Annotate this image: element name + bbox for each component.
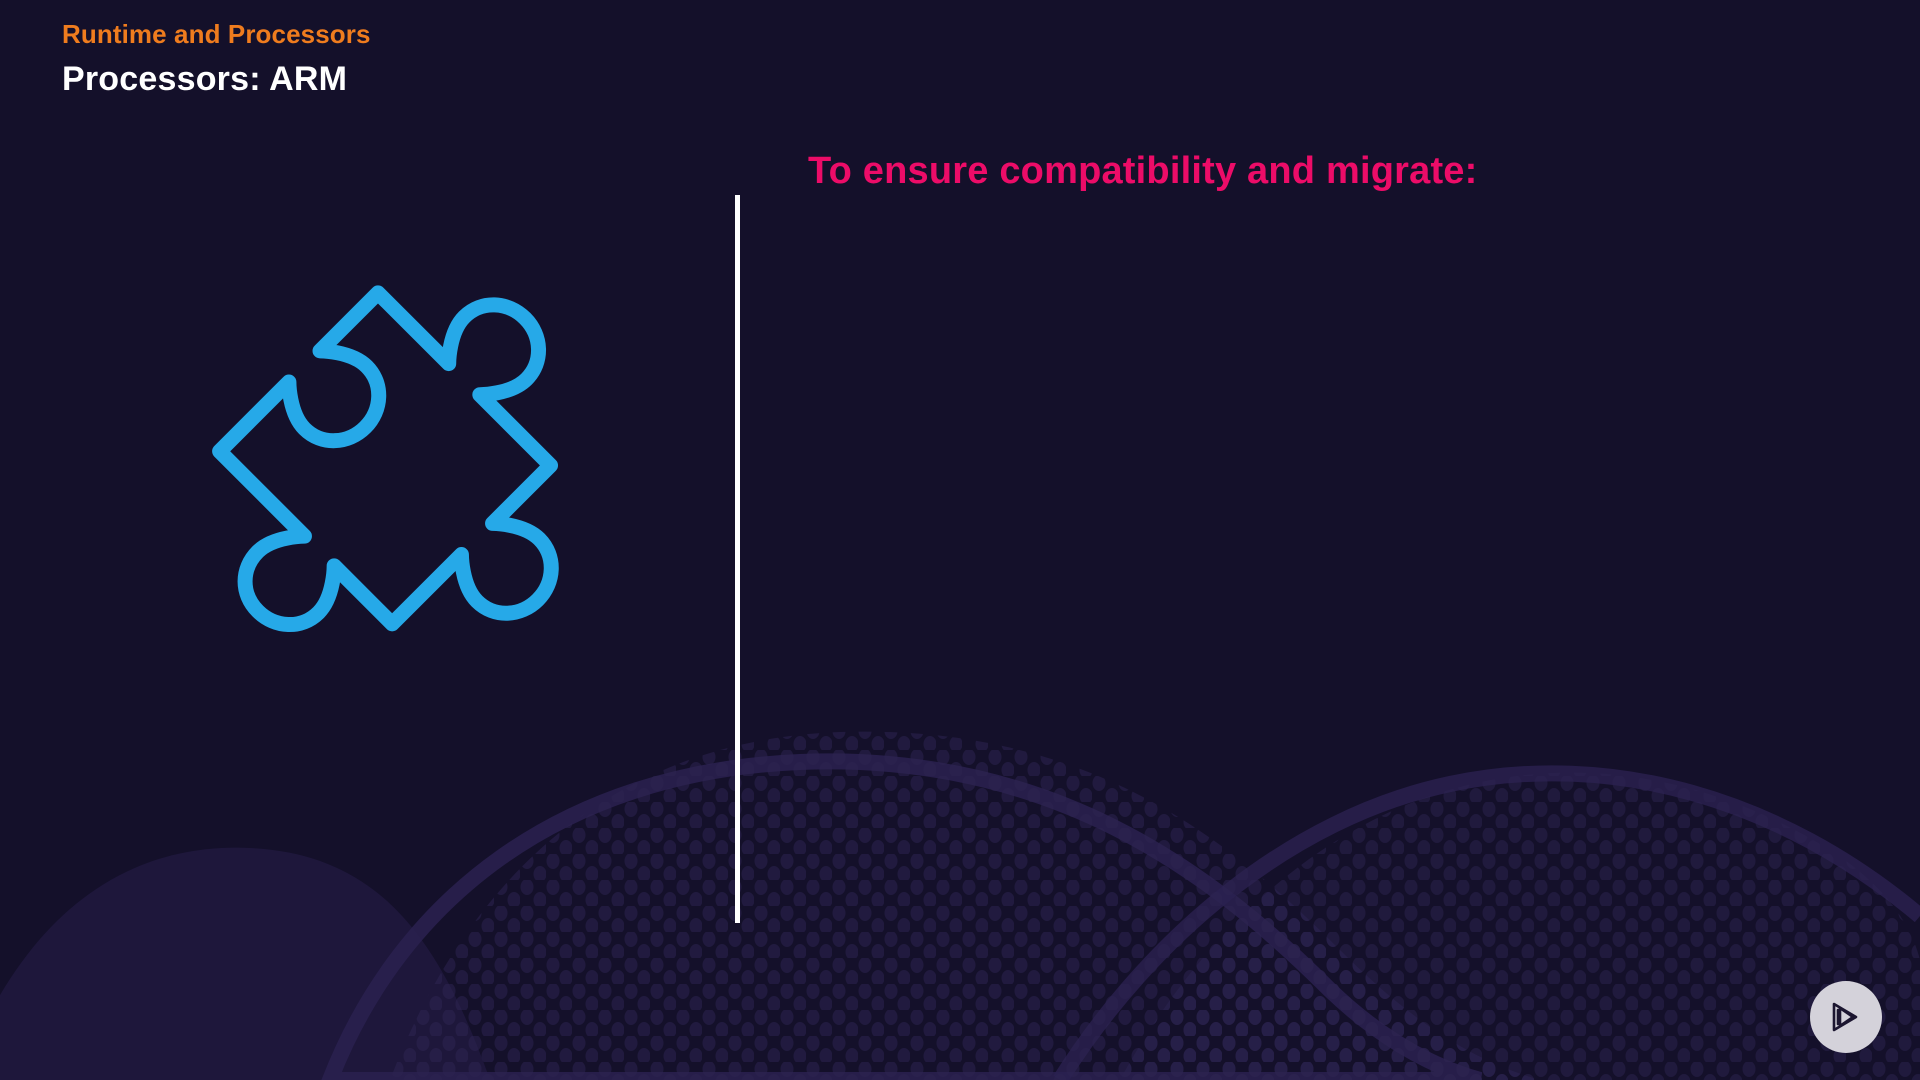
slide-header: Runtime and Processors Processors: ARM bbox=[62, 18, 371, 101]
play-logo-badge[interactable] bbox=[1810, 981, 1882, 1053]
content-column: To ensure compatibility and migrate: bbox=[808, 148, 1848, 230]
puzzle-piece-icon bbox=[128, 272, 628, 772]
page-title: Processors: ARM bbox=[62, 57, 371, 101]
slide-eyebrow: Runtime and Processors bbox=[62, 18, 371, 51]
section-heading: To ensure compatibility and migrate: bbox=[808, 148, 1848, 196]
play-triangle-logo-icon bbox=[1826, 997, 1866, 1037]
puzzle-piece-graphic bbox=[128, 272, 628, 772]
vertical-divider bbox=[735, 195, 740, 923]
